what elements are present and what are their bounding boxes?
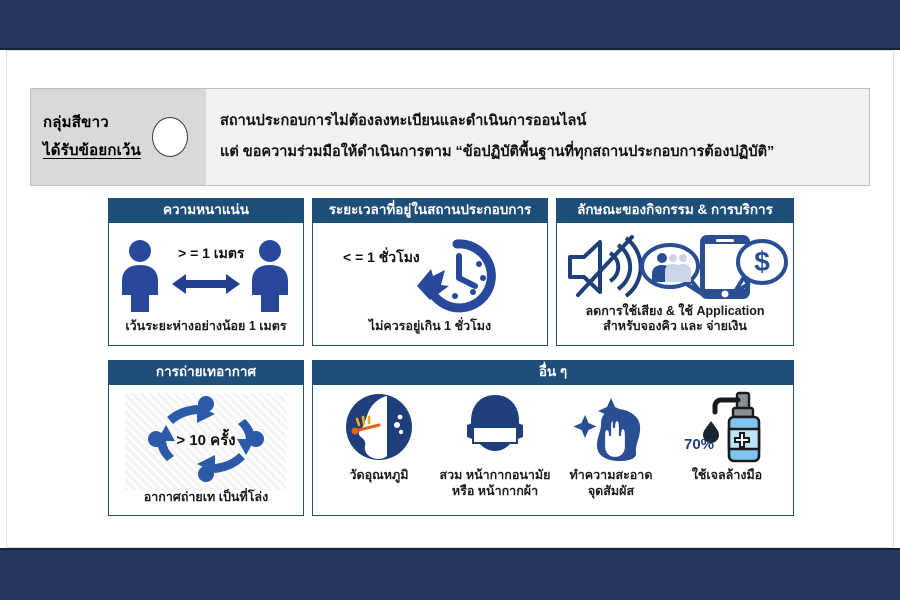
svg-text:$: $ xyxy=(754,246,770,277)
other-item-sanitizer: 70% ใช้เจลล้างมือ xyxy=(669,391,785,504)
card-other-title: อื่น ๆ xyxy=(313,361,793,385)
card-duration-body: < = 1 ชั่วโมง ไม่ควรอยู่เกิน 1 ชั่วโมง xyxy=(313,223,547,342)
air-inline-label: > 10 ครั้ง xyxy=(176,428,235,449)
density-inline-label: > = 1 เมตร xyxy=(178,245,245,261)
other-caption-thermometer: วัดอุณหภูมิ xyxy=(350,467,409,483)
card-density-title: ความหนาแน่น xyxy=(109,199,303,223)
white-circle-icon xyxy=(152,117,188,157)
slide-canvas: กลุ่มสีขาว ได้รับข้อยกเว้น สถานประกอบการ… xyxy=(0,0,900,600)
exemption-line-2: แต่ ขอความร่วมมือให้ดำเนินการตาม “ข้อปฏิ… xyxy=(220,144,855,161)
other-caption-sanitizer-line1: ใช้เจลล้างมือ xyxy=(692,467,762,483)
exemption-group-panel: กลุ่มสีขาว ได้รับข้อยกเว้น xyxy=(31,89,206,185)
two-people-distance-icon: > = 1 เมตร xyxy=(113,231,299,319)
other-caption-cleaning: ทำความสะอาด จุดสัมผัส xyxy=(570,467,653,500)
card-other-body: วัดอุณหภูมิ สวม ห xyxy=(313,385,793,512)
card-other: อื่น ๆ xyxy=(312,360,794,516)
exemption-description-panel: สถานประกอบการไม่ต้องลงทะเบียนและดำเนินกา… xyxy=(206,89,869,185)
other-item-cleaning: ทำความสะอาด จุดสัมผัส xyxy=(553,391,669,504)
other-caption-mask: สวม หน้ากากอนามัย หรือ หน้ากากผ้า xyxy=(440,467,551,500)
other-item-mask: สวม หน้ากากอนามัย หรือ หน้ากากผ้า xyxy=(437,391,553,504)
card-duration-title: ระยะเวลาที่อยู่ในสถานประกอบการ xyxy=(313,199,547,223)
other-caption-mask-line1: สวม หน้ากากอนามัย xyxy=(440,467,551,483)
sanitizer-badge: 70% xyxy=(684,436,714,453)
card-activity-caption-line2: สำหรับจองคิว และ จ่ายเงิน xyxy=(585,319,764,335)
other-caption-sanitizer: ใช้เจลล้างมือ xyxy=(692,467,762,483)
exemption-header-box: กลุ่มสีขาว ได้รับข้อยกเว้น สถานประกอบการ… xyxy=(30,88,870,186)
card-air-body: > 10 ครั้ง อากาศถ่ายเท เป็นที่โล่ง xyxy=(109,385,303,512)
card-activity-title: ลักษณะของกิจกรรม & การบริการ xyxy=(557,199,793,223)
card-air-title: การถ่ายเทอากาศ xyxy=(109,361,303,385)
hand-cleaning-sparkle-icon xyxy=(573,391,649,463)
clock-arrow-icon: < = 1 ชั่วโมง xyxy=(317,231,543,319)
exemption-line-1: สถานประกอบการไม่ต้องลงทะเบียนและดำเนินกา… xyxy=(220,113,855,130)
other-caption-cleaning-line1: ทำความสะอาด xyxy=(570,467,653,483)
card-air-caption: อากาศถ่ายเท เป็นที่โล่ง xyxy=(144,490,268,506)
other-caption-cleaning-line2: จุดสัมผัส xyxy=(570,483,653,499)
top-navy-band xyxy=(0,0,900,48)
card-activity-body: $ ลดการใช้เสียง & ใช้ Application สำหรับ… xyxy=(557,223,793,342)
card-activity: ลักษณะของกิจกรรม & การบริการ xyxy=(556,198,794,346)
air-circulation-icon: > 10 ครั้ง xyxy=(113,393,299,490)
card-duration-caption: ไม่ควรอยู่เกิน 1 ชั่วโมง xyxy=(369,319,491,335)
duration-inline-label: < = 1 ชั่วโมง xyxy=(343,247,420,265)
bottom-navy-band xyxy=(0,550,900,600)
card-activity-caption-line1: ลดการใช้เสียง & ใช้ Application xyxy=(585,304,764,320)
card-activity-caption: ลดการใช้เสียง & ใช้ Application สำหรับจอ… xyxy=(585,304,764,335)
other-item-thermometer: วัดอุณหภูมิ xyxy=(321,391,437,504)
muted-speaker-and-phone-icon: $ xyxy=(561,231,789,304)
card-air: การถ่ายเทอากาศ xyxy=(108,360,304,516)
card-density: ความหนาแน่น > = 1 เมตร เว้นระยะห่างอย่ xyxy=(108,198,304,346)
card-density-caption: เว้นระยะห่างอย่างน้อย 1 เมตร xyxy=(125,319,286,335)
other-caption-thermometer-line1: วัดอุณหภูมิ xyxy=(350,467,409,483)
card-density-body: > = 1 เมตร เว้นระยะห่างอย่างน้อย 1 เมตร xyxy=(109,223,303,342)
other-caption-mask-line2: หรือ หน้ากากผ้า xyxy=(440,483,551,499)
hand-sanitizer-bottle-icon: 70% xyxy=(681,391,773,463)
face-mask-icon xyxy=(459,391,531,463)
thermometer-face-icon xyxy=(343,391,415,463)
card-duration: ระยะเวลาที่อยู่ในสถานประกอบการ xyxy=(312,198,548,346)
